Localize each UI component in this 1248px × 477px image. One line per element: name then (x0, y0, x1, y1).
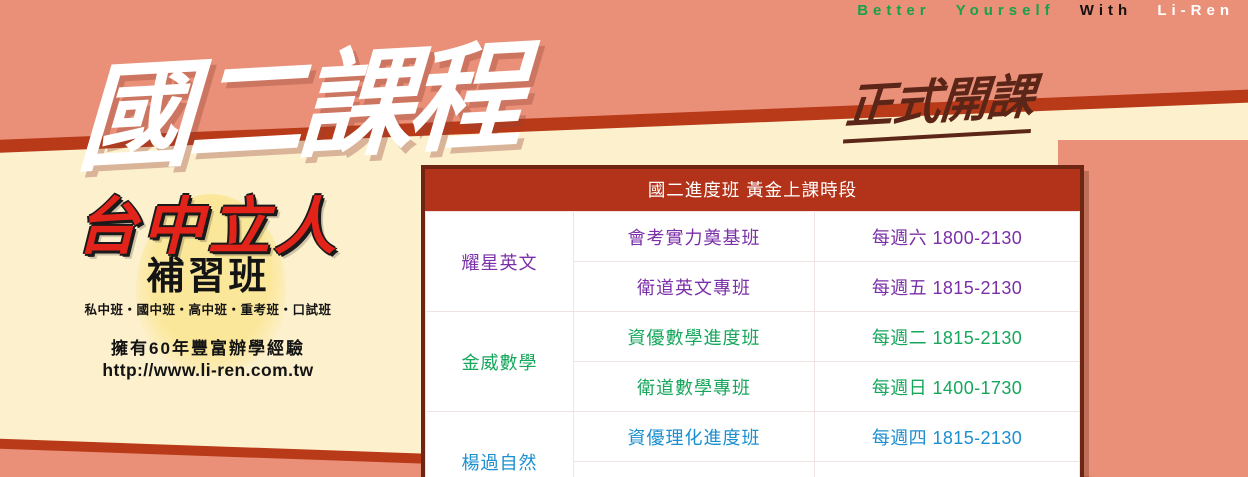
course-time-cell: 每週五 1815-2130 (815, 262, 1080, 312)
logo-website-url[interactable]: http://www.li-ren.com.tw (28, 360, 388, 381)
course-name-cell: 衛道自然專班 (574, 462, 815, 477)
promotional-banner: Better Yourself With Li-Ren 國二課程 正式開課 台中… (0, 0, 1248, 477)
tagline-word-yourself: Yourself (956, 2, 1055, 19)
course-time-cell: 每週二 1815-2130 (815, 312, 1080, 362)
course-name-cell: 資優理化進度班 (574, 412, 815, 462)
table-row: 金威數學資優數學進度班每週二 1815-2130 (426, 312, 1080, 362)
tagline-word-better: Better (857, 2, 930, 19)
right-salmon-panel (1058, 140, 1248, 477)
schedule-table: 耀星英文會考實力奠基班每週六 1800-2130衛道英文專班每週五 1815-2… (425, 211, 1080, 477)
tagline: Better Yourself With Li-Ren (857, 2, 1234, 19)
schedule-panel: 國二進度班 黃金上課時段 耀星英文會考實力奠基班每週六 1800-2130衛道英… (421, 165, 1084, 477)
course-name-cell: 衛道英文專班 (574, 262, 815, 312)
logo: 台中立人 補習班 私中班・國中班・高中班・重考班・口試班 擁有60年豐富辦學經驗… (28, 188, 388, 381)
subject-group-label: 楊過自然 (426, 412, 574, 477)
logo-experience: 擁有60年豐富辦學經驗 (28, 334, 388, 359)
subject-group-label: 金威數學 (426, 312, 574, 412)
table-row: 楊過自然資優理化進度班每週四 1815-2130 (426, 412, 1080, 462)
course-time-cell: 每週日 0900-1230 (815, 462, 1080, 477)
course-name-cell: 資優數學進度班 (574, 312, 815, 362)
table-row: 耀星英文會考實力奠基班每週六 1800-2130 (426, 212, 1080, 262)
schedule-header: 國二進度班 黃金上課時段 (425, 169, 1080, 211)
logo-class-list: 私中班・國中班・高中班・重考班・口試班 (28, 299, 388, 318)
course-time-cell: 每週六 1800-2130 (815, 212, 1080, 262)
subject-group-label: 耀星英文 (426, 212, 574, 312)
page-subtitle: 正式開課 (843, 57, 1037, 144)
tagline-word-with: With (1080, 2, 1132, 19)
course-name-cell: 會考實力奠基班 (574, 212, 815, 262)
course-time-cell: 每週四 1815-2130 (815, 412, 1080, 462)
logo-name: 台中立人 (28, 196, 388, 258)
course-name-cell: 衛道數學專班 (574, 362, 815, 412)
course-time-cell: 每週日 1400-1730 (815, 362, 1080, 412)
tagline-word-liren: Li-Ren (1157, 2, 1234, 19)
